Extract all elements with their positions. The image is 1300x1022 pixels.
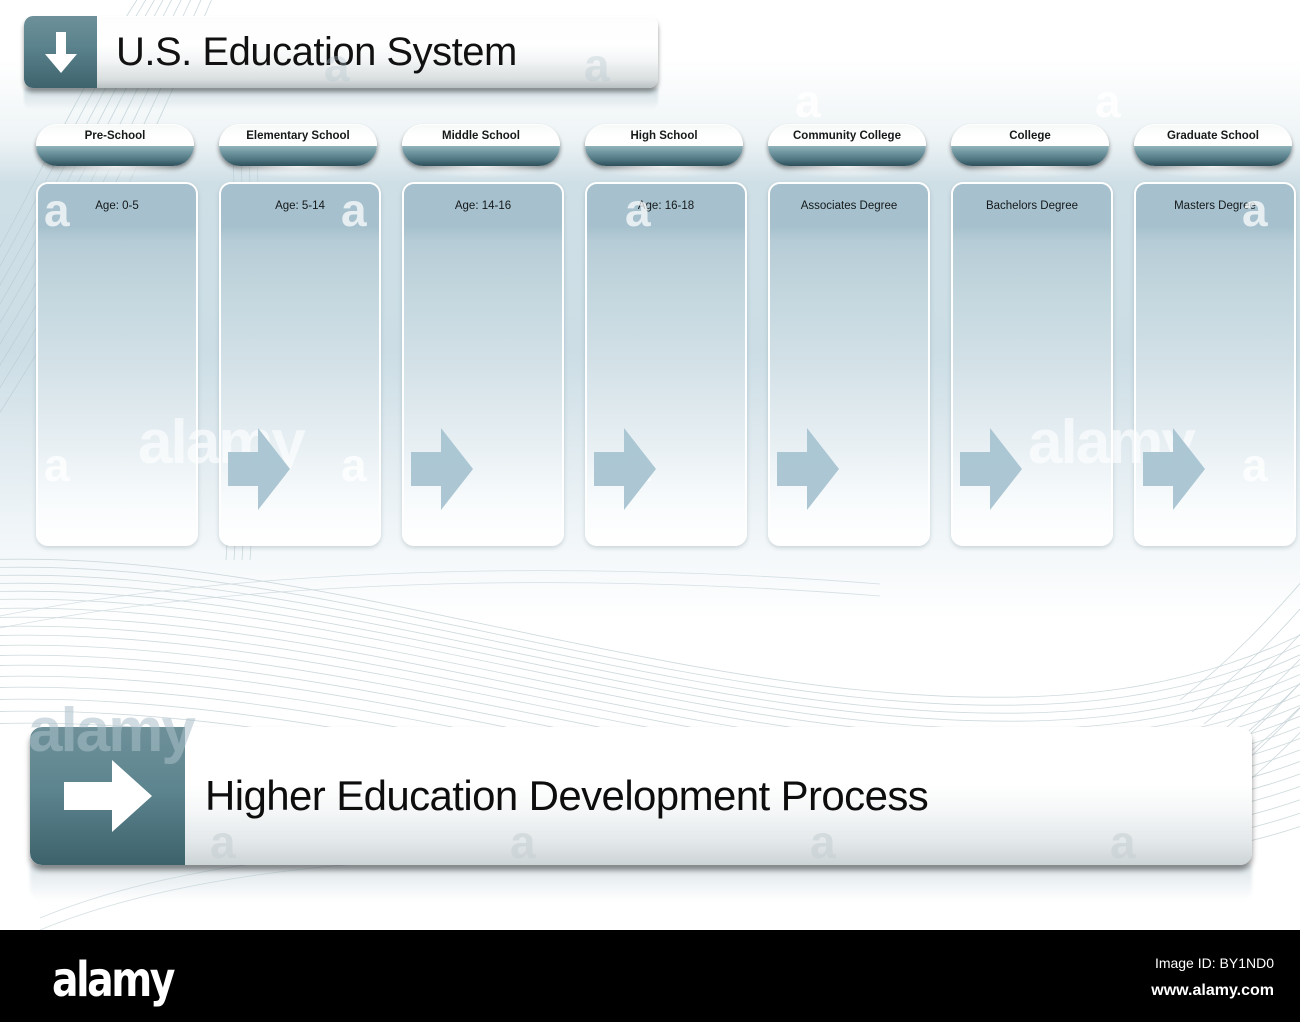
title-bar: U.S. Education System a a [24,16,658,88]
stage-header-pill[interactable]: High School [585,124,743,166]
stage-header-pill[interactable]: Community College [768,124,926,166]
watermark-letter: a [44,442,70,488]
flow-arrow-icon [228,428,290,510]
pill-glow [42,166,188,178]
flow-arrow-icon [1143,428,1205,510]
watermark-letter: a [1110,819,1136,865]
pill-glow [957,166,1103,178]
banner-title: Higher Education Development Process [205,727,928,865]
flow-arrow-icon [594,428,656,510]
flow-arrow-icon [411,428,473,510]
column-pre-school: Pre-School Age: 0-5 a a [36,124,194,546]
pill-glow [225,166,371,178]
stage-detail: Age: 0-5 [38,184,196,228]
pill-glow [591,166,737,178]
bottom-banner: Higher Education Development Process a a… [30,727,1252,865]
stage-detail: Bachelors Degree [953,184,1111,228]
flow-arrow-icon [960,428,1022,510]
stage-header-pill[interactable]: Graduate School [1134,124,1292,166]
stage-detail: Age: 16-18 [587,184,745,228]
alamy-logo: alamy [52,952,173,1008]
watermark-letter: a [584,42,610,88]
stage-title: College [951,124,1109,148]
stage-detail: Age: 5-14 [221,184,379,228]
watermark-letter: a [1242,442,1268,488]
stage-detail: Masters Degree [1136,184,1294,228]
pill-glow [1140,166,1286,178]
alamy-url[interactable]: www.alamy.com [1151,982,1274,1000]
watermark-letter: a [341,442,367,488]
stage-title: Elementary School [219,124,377,148]
stage-columns: Pre-School Age: 0-5 a a Elementary Schoo… [0,124,1300,554]
page-title: U.S. Education System [116,16,517,88]
flow-arrow-icon [777,428,839,510]
stage-title: Community College [768,124,926,148]
image-id-label: Image ID: BY1ND0 [1155,955,1274,971]
stage-header-pill[interactable]: Middle School [402,124,560,166]
arrow-down-icon [24,16,97,88]
stage-header-pill[interactable]: College [951,124,1109,166]
stage-card[interactable]: Age: 0-5 a a [36,182,198,546]
pill-glow [408,166,554,178]
stage-detail: Age: 14-16 [404,184,562,228]
banner-reflection [30,865,1252,901]
alamy-footer-bar: alamy Image ID: BY1ND0 www.alamy.com [0,930,1300,1022]
stage-detail: Associates Degree [770,184,928,228]
stage-title: Pre-School [36,124,194,148]
stage-header-pill[interactable]: Elementary School [219,124,377,166]
stage-header-pill[interactable]: Pre-School [36,124,194,166]
arrow-right-icon [30,727,185,865]
stage-title: Middle School [402,124,560,148]
stage-title: High School [585,124,743,148]
title-bar-reflection [24,88,658,110]
stage-title: Graduate School [1134,124,1292,148]
infographic-canvas: U.S. Education System a a a a Pre-School… [0,0,1300,930]
pill-glow [774,166,920,178]
